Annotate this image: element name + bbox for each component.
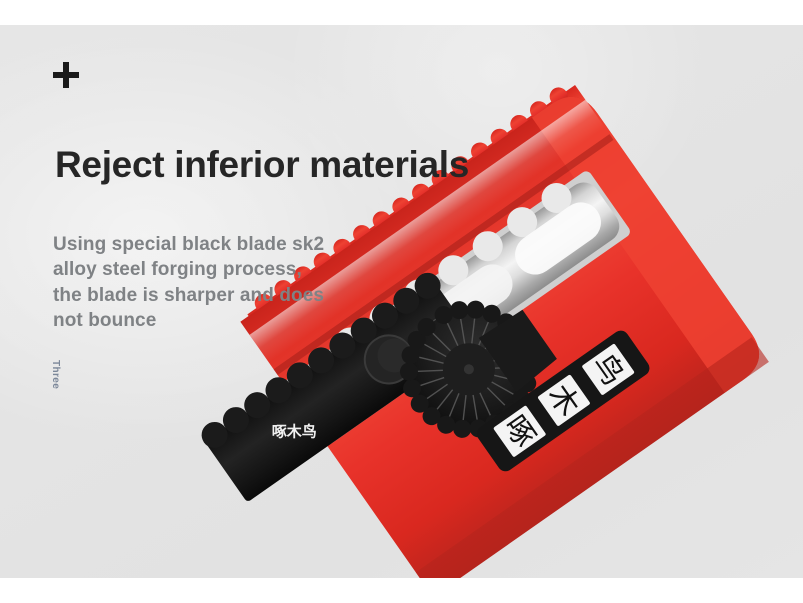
top-white-border	[0, 0, 803, 25]
product-feature-banner: 啄木鸟	[0, 0, 803, 603]
blade-marking-text: 啄木鸟	[272, 422, 317, 440]
page-title: Reject inferior materials	[55, 140, 469, 190]
bottom-white-border	[0, 578, 803, 603]
plus-icon	[53, 62, 79, 88]
blade-marking: 啄木鸟	[272, 422, 317, 440]
body-description: Using special black blade sk2 alloy stee…	[53, 232, 325, 333]
section-number-label: Three	[50, 360, 61, 389]
